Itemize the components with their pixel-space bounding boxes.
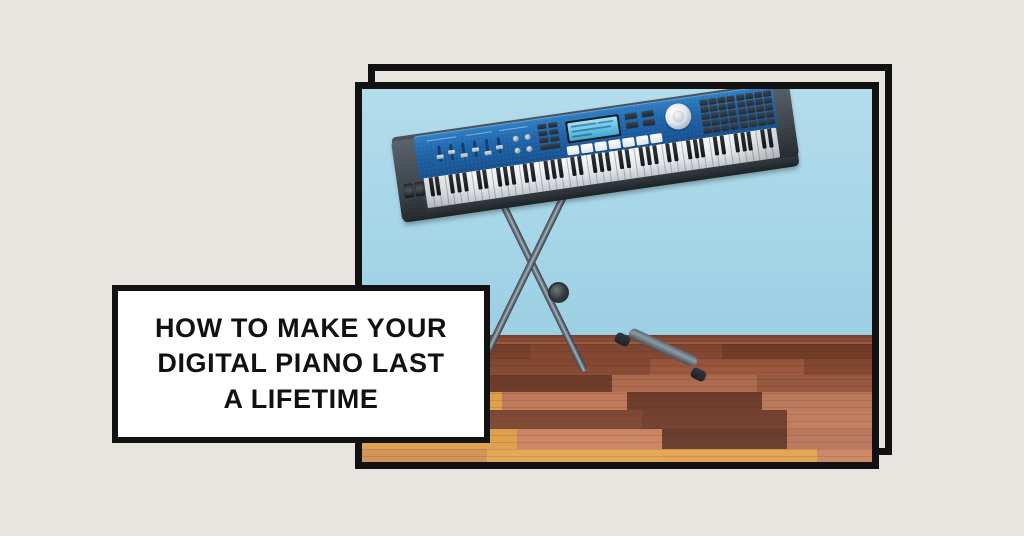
button-matrix [699, 90, 775, 134]
matrix-button [720, 117, 729, 124]
black-key [692, 139, 699, 158]
panel-button [548, 122, 558, 128]
matrix-button [726, 95, 735, 102]
matrix-button [730, 123, 739, 130]
panel-button [540, 143, 561, 151]
black-key [733, 133, 740, 152]
black-key [652, 145, 659, 164]
black-key [482, 169, 489, 188]
black-key [665, 143, 672, 162]
black-key [462, 172, 469, 191]
matrix-button [739, 115, 748, 122]
white-key-separator [728, 134, 733, 164]
panel-button [537, 123, 547, 129]
black-key [625, 149, 632, 168]
black-key [740, 132, 747, 151]
white-key-separator [538, 162, 543, 192]
data-jog-wheel [664, 102, 693, 131]
matrix-button [756, 105, 765, 112]
matrix-button [717, 97, 726, 104]
pitch-bend-wheel [403, 183, 414, 198]
matrix-button [701, 113, 710, 120]
panel-button [550, 136, 560, 142]
black-key [503, 166, 510, 185]
jog-wheel-center [672, 110, 686, 124]
matrix-button [757, 112, 766, 119]
matrix-button [712, 126, 721, 133]
black-key [543, 161, 550, 180]
black-key [530, 163, 537, 182]
soft-button [622, 137, 635, 148]
matrix-button [740, 122, 749, 129]
matrix-button [767, 118, 776, 125]
black-key [570, 157, 577, 176]
matrix-button [758, 119, 767, 126]
black-key [699, 138, 706, 157]
white-key-separator [491, 169, 496, 199]
matrix-button [702, 120, 711, 127]
black-key [645, 146, 652, 165]
black-key [550, 160, 557, 179]
matrix-button [727, 102, 736, 109]
matrix-button [737, 108, 746, 115]
soft-button [567, 145, 580, 156]
black-key [523, 164, 530, 183]
poster-canvas: How to Make Your Digital Piano Last a Li… [0, 0, 1024, 536]
matrix-button [755, 98, 764, 105]
black-key [577, 156, 584, 175]
black-key [496, 167, 503, 186]
panel-knob [514, 147, 521, 154]
panel-knob [524, 134, 531, 141]
panel-slider-cap [484, 151, 491, 156]
matrix-button [699, 99, 708, 106]
black-key [598, 153, 605, 172]
black-key [591, 154, 598, 173]
matrix-button [735, 94, 744, 101]
lcd-line [597, 120, 613, 124]
white-key-separator [586, 155, 591, 185]
matrix-button [711, 119, 720, 126]
matrix-button [745, 93, 754, 100]
white-key-separator [633, 148, 638, 178]
panel-label-line [426, 136, 456, 141]
black-key [686, 140, 693, 159]
black-key [428, 177, 435, 196]
black-key [618, 150, 625, 169]
panel-button [624, 112, 637, 120]
matrix-button [728, 109, 737, 116]
matrix-button [749, 121, 758, 128]
matrix-button [766, 111, 775, 118]
black-key [449, 174, 456, 193]
black-key [435, 176, 442, 195]
black-key [713, 136, 720, 155]
panel-button [626, 121, 639, 129]
soft-button [594, 141, 607, 152]
matrix-button [703, 127, 712, 134]
stand-foot-rear-right [627, 327, 699, 368]
white-key-separator [471, 171, 476, 201]
matrix-button [747, 107, 756, 114]
lcd-line [572, 133, 592, 138]
matrix-button [729, 116, 738, 123]
lcd-display [567, 116, 619, 141]
black-key [720, 135, 727, 154]
panel-slider-cap [460, 153, 467, 158]
soft-button [608, 139, 621, 150]
black-key [760, 129, 767, 148]
white-key-separator [681, 141, 686, 171]
matrix-button [754, 91, 763, 98]
panel-slider-cap [472, 147, 479, 152]
matrix-button [708, 98, 717, 105]
black-key [510, 165, 517, 184]
panel-slider-cap [436, 154, 443, 159]
matrix-button [721, 124, 730, 131]
matrix-button [736, 101, 745, 108]
matrix-button [746, 100, 755, 107]
panel-slider-cap [448, 150, 455, 155]
black-key [557, 159, 564, 178]
soft-button [636, 135, 649, 146]
white-key-separator [755, 131, 760, 161]
matrix-button [763, 90, 772, 97]
black-key [767, 128, 774, 147]
black-key [604, 152, 611, 171]
panel-label-line [499, 126, 527, 131]
panel-button [643, 119, 656, 127]
panel-button [539, 137, 549, 143]
page-title: How to Make Your Digital Piano Last a Li… [118, 311, 484, 418]
matrix-button [764, 97, 773, 104]
panel-knob [512, 135, 519, 142]
black-key [672, 142, 679, 161]
matrix-button [710, 112, 719, 119]
panel-label-line [466, 131, 492, 136]
matrix-button [719, 111, 728, 118]
matrix-button [765, 104, 774, 111]
matrix-button [700, 106, 709, 113]
matrix-button [709, 105, 718, 112]
stand-foot-cap-rear-right-end [689, 366, 707, 382]
black-key [638, 147, 645, 166]
panel-knob [526, 146, 533, 153]
black-key [476, 170, 483, 189]
matrix-button [748, 114, 757, 121]
black-key [747, 131, 754, 150]
panel-button [538, 130, 548, 136]
panel-button [641, 110, 654, 118]
title-card: How to Make Your Digital Piano Last a Li… [112, 285, 490, 443]
black-key [455, 173, 462, 192]
matrix-button [718, 104, 727, 111]
soft-button [580, 143, 593, 154]
stand-pivot-joint [548, 282, 569, 303]
panel-button [549, 129, 559, 135]
soft-button [650, 133, 663, 144]
panel-slider-cap [496, 145, 503, 150]
